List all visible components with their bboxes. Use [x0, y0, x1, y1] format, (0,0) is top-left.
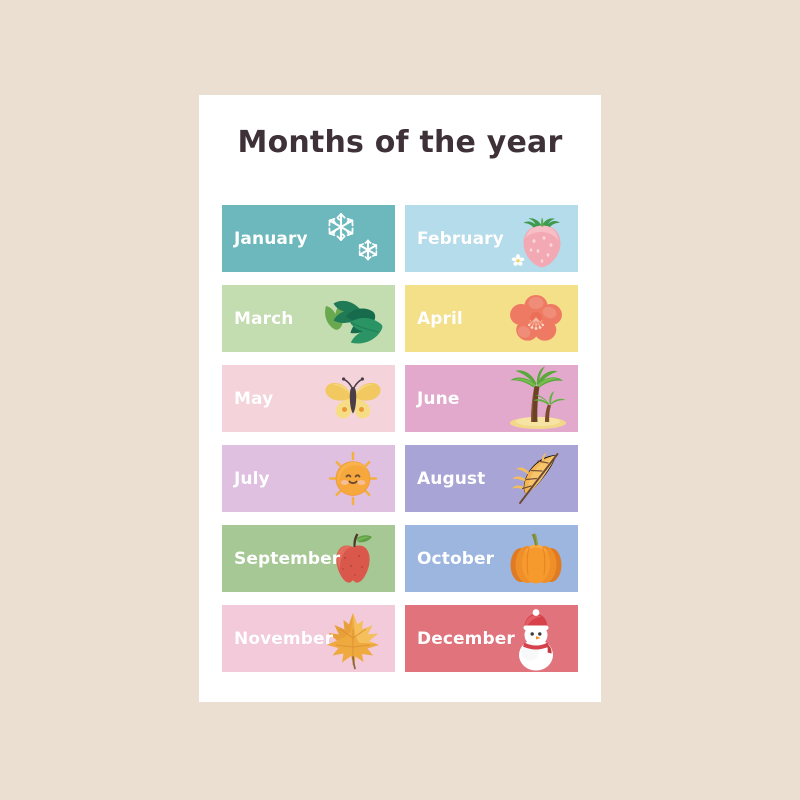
month-label: April	[417, 309, 463, 329]
snowflakes-icon	[315, 205, 391, 272]
month-label: May	[234, 389, 273, 409]
page-title: Months of the year	[199, 125, 601, 160]
month-label: January	[234, 229, 308, 249]
month-card-december[interactable]: December	[405, 605, 578, 672]
month-label: September	[234, 549, 340, 569]
month-card-july[interactable]: July	[222, 445, 395, 512]
month-card-september[interactable]: September	[222, 525, 395, 592]
month-label: October	[417, 549, 494, 569]
sun-icon	[315, 445, 391, 512]
month-label: July	[234, 469, 270, 489]
months-poster: Months of the year January	[199, 95, 601, 702]
month-label: March	[234, 309, 293, 329]
hibiscus-flower-icon	[498, 285, 574, 352]
month-card-april[interactable]: April	[405, 285, 578, 352]
month-card-march[interactable]: March	[222, 285, 395, 352]
month-label: November	[234, 629, 333, 649]
green-leaves-icon	[315, 285, 391, 352]
small-flower-icon	[512, 254, 525, 267]
month-card-november[interactable]: November	[222, 605, 395, 672]
month-card-january[interactable]: January	[222, 205, 395, 272]
month-label: August	[417, 469, 485, 489]
butterfly-icon	[315, 365, 391, 432]
month-card-october[interactable]: October	[405, 525, 578, 592]
month-label: December	[417, 629, 515, 649]
palm-tree-icon	[498, 365, 574, 432]
months-grid: January	[222, 205, 578, 672]
pumpkin-icon	[498, 525, 574, 592]
month-card-february[interactable]: February	[405, 205, 578, 272]
month-card-may[interactable]: May	[222, 365, 395, 432]
month-card-june[interactable]: June	[405, 365, 578, 432]
month-card-august[interactable]: August	[405, 445, 578, 512]
strawberry-icon	[498, 205, 574, 272]
autumn-leaf-icon	[498, 445, 574, 512]
month-label: June	[417, 389, 459, 409]
month-label: February	[417, 229, 504, 249]
poster-scene: Months of the year January	[0, 0, 800, 800]
